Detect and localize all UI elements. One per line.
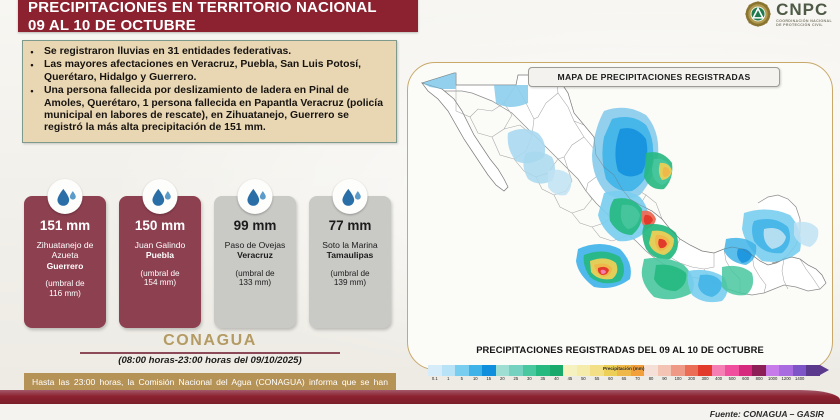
logo-subtitle-line2: DE PROTECCIÓN CIVIL xyxy=(776,24,832,28)
color-scale-swatch xyxy=(766,365,780,376)
color-scale-tick: 400 xyxy=(715,376,722,381)
color-scale-swatch xyxy=(806,365,820,376)
color-scale-tick: 1 xyxy=(447,376,449,381)
color-scale-tick: 500 xyxy=(729,376,736,381)
map-scale-title: PRECIPITACIONES REGISTRADAS DEL 09 AL 10… xyxy=(407,344,833,355)
color-scale-swatch xyxy=(658,365,672,376)
color-scale-swatch xyxy=(536,365,550,376)
card-threshold-line1: (umbral de xyxy=(140,269,179,278)
color-scale-tick: 0.1 xyxy=(432,376,438,381)
color-scale-tick: 45 xyxy=(568,376,573,381)
card-threshold: (umbral de 154 mm) xyxy=(123,269,197,288)
divider xyxy=(80,352,340,354)
color-scale-tick: 1200 xyxy=(782,376,791,381)
card-state: Tamaulipas xyxy=(313,250,387,260)
bullet-marker-icon: • xyxy=(27,46,37,58)
color-scale-bar: Precipitación (mm) xyxy=(428,365,820,376)
card-place: Soto la Marina Tamaulipas xyxy=(313,240,387,261)
bullet-text: Una persona fallecida por deslizamiento … xyxy=(44,85,388,135)
color-scale-swatch xyxy=(671,365,685,376)
map-panel[interactable]: MAPA DE PRECIPITACIONES REGISTRADAS xyxy=(407,62,833,370)
color-scale-swatch xyxy=(482,365,496,376)
card-threshold-line1: (umbral de xyxy=(330,269,369,278)
color-scale-tick: 15 xyxy=(486,376,491,381)
card-value: 77 mm xyxy=(313,218,387,233)
page-title-line2: 09 AL 10 DE OCTUBRE xyxy=(18,16,418,34)
scale-arrow-icon xyxy=(820,365,829,375)
bullet-text: Se registraron lluvias en 31 entidades f… xyxy=(44,46,388,58)
color-scale-swatch xyxy=(725,365,739,376)
color-scale-swatch xyxy=(685,365,699,376)
color-scale-swatch xyxy=(752,365,766,376)
card-place: Juan Galindo Puebla xyxy=(123,240,197,261)
card-place-name: Soto la Marina xyxy=(322,240,377,250)
color-scale-swatch xyxy=(550,365,564,376)
conagua-name: CONAGUA xyxy=(24,332,396,350)
bullet-marker-icon: • xyxy=(27,85,37,97)
cnpc-logo: CNPC COORDINACIÓN NACIONAL DE PROTECCIÓN… xyxy=(745,1,832,27)
precipitation-card[interactable]: 77 mm Soto la Marina Tamaulipas (umbral … xyxy=(309,196,391,328)
water-drop-icon xyxy=(333,179,368,214)
color-scale-tick: 20 xyxy=(500,376,505,381)
color-scale-swatch xyxy=(442,365,456,376)
card-value: 150 mm xyxy=(123,218,197,233)
color-scale-tick: 600 xyxy=(742,376,749,381)
bullet-marker-icon: • xyxy=(27,59,37,71)
list-item: • Se registraron lluvias en 31 entidades… xyxy=(27,46,388,58)
card-place: Zihuatanejo de Azueta Guerrero xyxy=(28,240,102,271)
color-scale-tick: 300 xyxy=(702,376,709,381)
logo-acronym: CNPC xyxy=(776,1,832,18)
color-scale-swatch xyxy=(523,365,537,376)
color-scale-tick: 65 xyxy=(622,376,627,381)
precipitation-heatmap[interactable] xyxy=(408,63,833,331)
color-scale-tick: 25 xyxy=(514,376,519,381)
logo-subtitle: COORDINACIÓN NACIONAL DE PROTECCIÓN CIVI… xyxy=(776,20,832,27)
color-scale-swatch xyxy=(644,365,658,376)
card-place-name: Juan Galindo xyxy=(135,240,186,250)
precipitation-color-scale: Precipitación (mm) 0.1151015202530354045… xyxy=(428,365,828,385)
header-title-bar: PRECIPITACIONES EN TERRITORIO NACIONAL 0… xyxy=(18,0,418,32)
card-place-name: Paso de Ovejas xyxy=(225,240,286,250)
color-scale-swatch xyxy=(793,365,807,376)
protection-civil-triangle-icon xyxy=(745,1,771,27)
color-scale-tick: 80 xyxy=(649,376,654,381)
precipitation-card[interactable]: 151 mm Zihuatanejo de Azueta Guerrero (u… xyxy=(24,196,106,328)
card-state: Puebla xyxy=(123,250,197,260)
card-threshold-line2: 139 mm) xyxy=(334,278,366,287)
bullet-text: Las mayores afectaciones en Veracruz, Pu… xyxy=(44,59,388,84)
color-scale-tick: 30 xyxy=(527,376,532,381)
card-threshold-line1: (umbral de xyxy=(45,279,84,288)
card-threshold-line2: 154 mm) xyxy=(144,278,176,287)
color-scale-tick: 10 xyxy=(473,376,478,381)
bullet-list: • Se registraron lluvias en 31 entidades… xyxy=(27,46,388,135)
color-scale-tick: 40 xyxy=(554,376,559,381)
card-threshold-line2: 116 mm) xyxy=(49,289,81,298)
color-scale-tick: 35 xyxy=(541,376,546,381)
color-scale-swatch xyxy=(496,365,510,376)
color-scale-swatch xyxy=(779,365,793,376)
color-scale-swatch xyxy=(698,365,712,376)
color-scale-swatch xyxy=(509,365,523,376)
color-scale-ticks: 0.11510152025303540455055606570809010020… xyxy=(428,376,820,384)
map-panel-title: MAPA DE PRECIPITACIONES REGISTRADAS xyxy=(528,67,780,87)
color-scale-tick: 1400 xyxy=(795,376,804,381)
color-scale-tick: 70 xyxy=(635,376,640,381)
footer-decoration xyxy=(0,390,840,404)
page-title-line1: PRECIPITACIONES EN TERRITORIO NACIONAL xyxy=(18,0,418,16)
color-scale-swatch xyxy=(455,365,469,376)
top-precipitation-cards: 151 mm Zihuatanejo de Azueta Guerrero (u… xyxy=(24,196,391,328)
color-scale-tick: 50 xyxy=(581,376,586,381)
card-place-name: Zihuatanejo de Azueta xyxy=(37,240,94,260)
card-threshold-line1: (umbral de xyxy=(235,269,274,278)
color-scale-swatch xyxy=(739,365,753,376)
card-threshold: (umbral de 116 mm) xyxy=(28,279,102,298)
color-scale-swatch xyxy=(469,365,483,376)
card-threshold-line2: 133 mm) xyxy=(239,278,271,287)
color-scale-swatch xyxy=(577,365,591,376)
card-threshold: (umbral de 133 mm) xyxy=(218,269,292,288)
precipitation-card[interactable]: 150 mm Juan Galindo Puebla (umbral de 15… xyxy=(119,196,201,328)
color-scale-tick: 5 xyxy=(461,376,463,381)
color-scale-tick: 100 xyxy=(675,376,682,381)
source-credit: Fuente: CONAGUA – GASIR xyxy=(710,409,824,419)
color-scale-swatch xyxy=(563,365,577,376)
conagua-period: (08:00 horas-23:00 horas del 09/10/2025) xyxy=(24,355,396,366)
color-scale-tick: 200 xyxy=(688,376,695,381)
color-scale-swatch xyxy=(590,365,604,376)
precipitation-card[interactable]: 99 mm Paso de Ovejas Veracruz (umbral de… xyxy=(214,196,296,328)
card-place: Paso de Ovejas Veracruz xyxy=(218,240,292,261)
card-state: Guerrero xyxy=(28,261,102,271)
color-scale-swatch xyxy=(428,365,442,376)
card-state: Veracruz xyxy=(218,250,292,260)
color-scale-swatch xyxy=(712,365,726,376)
water-drop-icon xyxy=(238,179,273,214)
card-threshold: (umbral de 139 mm) xyxy=(313,269,387,288)
color-scale-tick: 60 xyxy=(608,376,613,381)
list-item: • Una persona fallecida por deslizamient… xyxy=(27,85,388,135)
water-drop-icon xyxy=(143,179,178,214)
color-scale-tick: 55 xyxy=(595,376,600,381)
card-value: 99 mm xyxy=(218,218,292,233)
color-scale-tick: 90 xyxy=(662,376,667,381)
color-scale-tick: 800 xyxy=(756,376,763,381)
card-value: 151 mm xyxy=(28,218,102,233)
list-item: • Las mayores afectaciones en Veracruz, … xyxy=(27,59,388,84)
conagua-block: CONAGUA (08:00 horas-23:00 horas del 09/… xyxy=(24,332,396,366)
summary-bullets-box: • Se registraron lluvias en 31 entidades… xyxy=(22,40,397,143)
water-drop-icon xyxy=(48,179,83,214)
color-scale-tick: 1000 xyxy=(768,376,777,381)
color-scale-caption: Precipitación (mm) xyxy=(603,366,644,371)
